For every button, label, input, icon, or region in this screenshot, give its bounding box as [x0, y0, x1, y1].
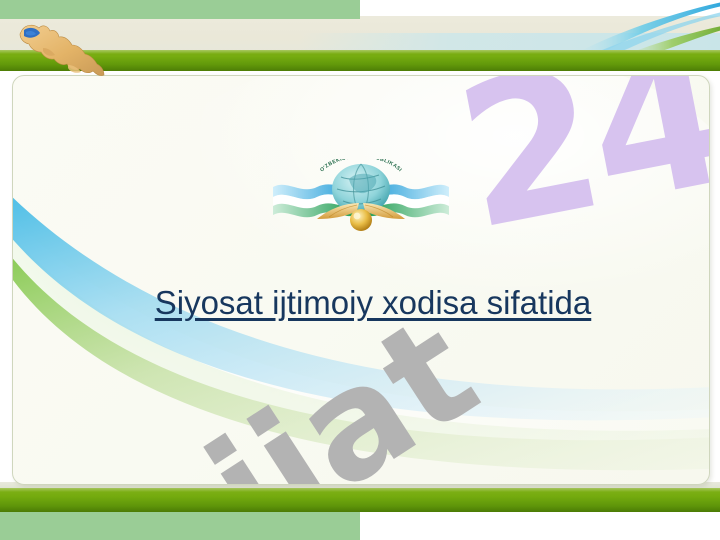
bottom-right-white-strip — [360, 512, 720, 540]
watermark-number: 24 — [445, 75, 710, 258]
watermark-brand: Hujjat — [12, 293, 499, 485]
top-left-pale-green-block — [0, 0, 360, 19]
presentation-slide: 24 Hujjat — [0, 0, 720, 540]
content-panel: 24 Hujjat — [12, 75, 710, 485]
slide-title: Siyosat ijtimoiy xodisa sifatida — [13, 284, 710, 322]
uzbekistan-map-icon — [12, 18, 110, 88]
bottom-green-bar-highlight — [0, 488, 720, 492]
bottom-left-pale-green-block — [0, 512, 360, 540]
top-right-white-strip — [360, 0, 720, 16]
uzbekistan-emblem-icon: O'ZBEKISTON RESPUBLIKASI — [271, 159, 451, 235]
